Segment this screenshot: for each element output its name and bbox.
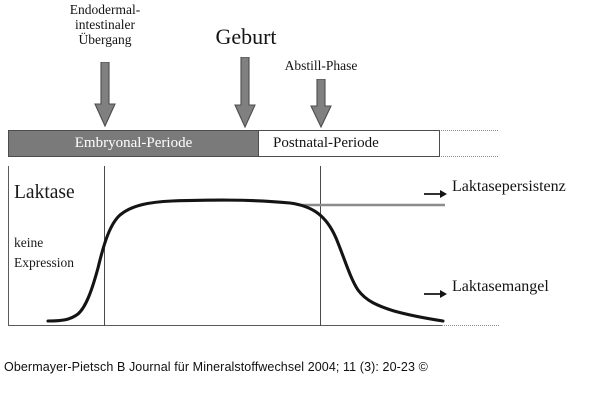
curve-lactase-expression [48,200,443,321]
right-arrow-icon-deficiency [424,288,448,300]
lactase-expression-figure: Endodermal- intestinaler Übergang Geburt… [0,0,600,420]
figure-caption: Obermayer-Pietsch B Journal für Minerals… [4,360,428,374]
branch-label-laktasemangel: Laktasemangel [452,278,549,296]
lactase-expression-curves [0,0,600,420]
plot-label-laktase: Laktase [14,182,75,204]
right-arrow-icon-persistence [424,188,448,200]
branch-label-laktasepersistenz: Laktasepersistenz [452,178,566,196]
plot-label-keine-expression: keine Expression [14,233,74,272]
